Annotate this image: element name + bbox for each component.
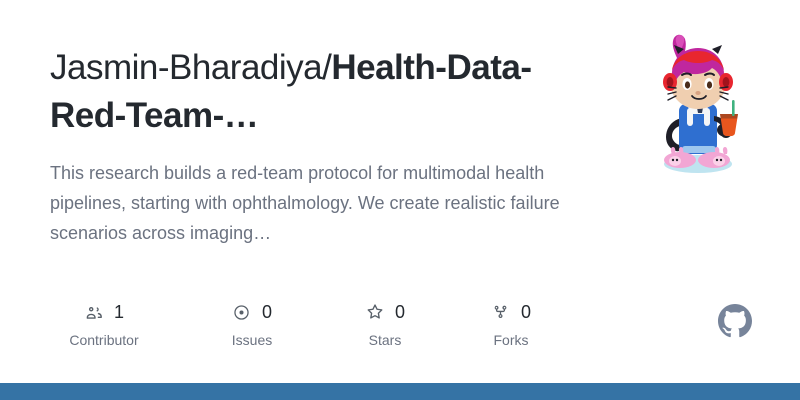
- repository-social-card: Jasmin-Bharadiya/Health-Data-Red-Team-… …: [0, 0, 800, 400]
- issue-opened-icon: [232, 302, 252, 322]
- stat-issues: 0 Issues: [206, 300, 298, 350]
- stat-forks-top: 0: [491, 300, 531, 324]
- github-mark-icon: [718, 304, 752, 338]
- card-content: Jasmin-Bharadiya/Health-Data-Red-Team-… …: [50, 44, 570, 248]
- stat-stars-top: 0: [365, 300, 405, 324]
- repo-forked-icon: [491, 302, 511, 322]
- bottom-accent-bar: [0, 383, 800, 400]
- stat-stars-value: 0: [395, 302, 405, 322]
- stat-contributors-top: 1: [84, 300, 124, 324]
- people-icon: [84, 302, 104, 322]
- stat-contributors-value: 1: [114, 302, 124, 322]
- stat-issues-label: Issues: [232, 330, 272, 350]
- repository-owner: Jasmin-Bharadiya/: [50, 48, 331, 87]
- stat-forks-label: Forks: [494, 330, 529, 350]
- stat-contributors: 1 Contributor: [50, 300, 158, 350]
- repository-title: Jasmin-Bharadiya/Health-Data-Red-Team-…: [50, 44, 570, 140]
- stat-issues-value: 0: [262, 302, 272, 322]
- stat-contributors-label: Contributor: [69, 330, 138, 350]
- stat-forks: 0 Forks: [472, 300, 550, 350]
- octocat-avatar: [636, 30, 766, 180]
- stat-stars: 0 Stars: [346, 300, 424, 350]
- stat-stars-label: Stars: [369, 330, 402, 350]
- repository-description: This research builds a red-team protocol…: [50, 140, 570, 248]
- stat-forks-value: 0: [521, 302, 531, 322]
- stat-issues-top: 0: [232, 300, 272, 324]
- repository-stats: 1 Contributor 0 Issues: [50, 300, 550, 350]
- star-icon: [365, 302, 385, 322]
